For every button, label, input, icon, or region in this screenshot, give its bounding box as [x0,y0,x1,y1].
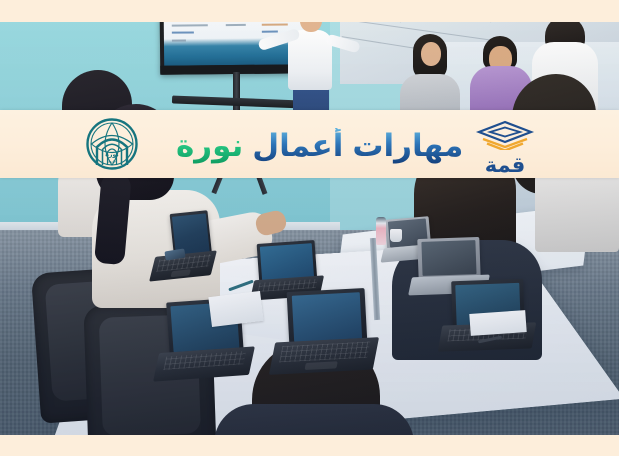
display-slide-content [164,22,308,66]
banner-title: مهارات أعمال نورة [176,124,446,168]
top-cream-strip [0,0,619,22]
bottom-cream-strip [0,435,619,456]
svg-text:نورة: نورة [105,152,118,159]
title-banner: نورة جامعة مهارات أعمال نورة قمة [0,110,619,178]
poster-root: نورة جامعة مهارات أعمال نورة قمة [0,0,619,456]
qimmah-logo: قمة [474,120,536,170]
photo-background [0,22,619,435]
title-word-aamal: أعمال [252,128,343,164]
papers-right [469,310,526,336]
water-bottle [376,217,386,245]
notebook-left [208,291,263,327]
qimmah-label: قمة [474,155,536,176]
svg-text:جامعة: جامعة [108,160,116,164]
coffee-cup [390,229,402,242]
title-word-maharat: مهارات [352,128,463,164]
pnu-logo: نورة جامعة [84,118,140,170]
title-word-nourah: نورة [176,128,243,164]
